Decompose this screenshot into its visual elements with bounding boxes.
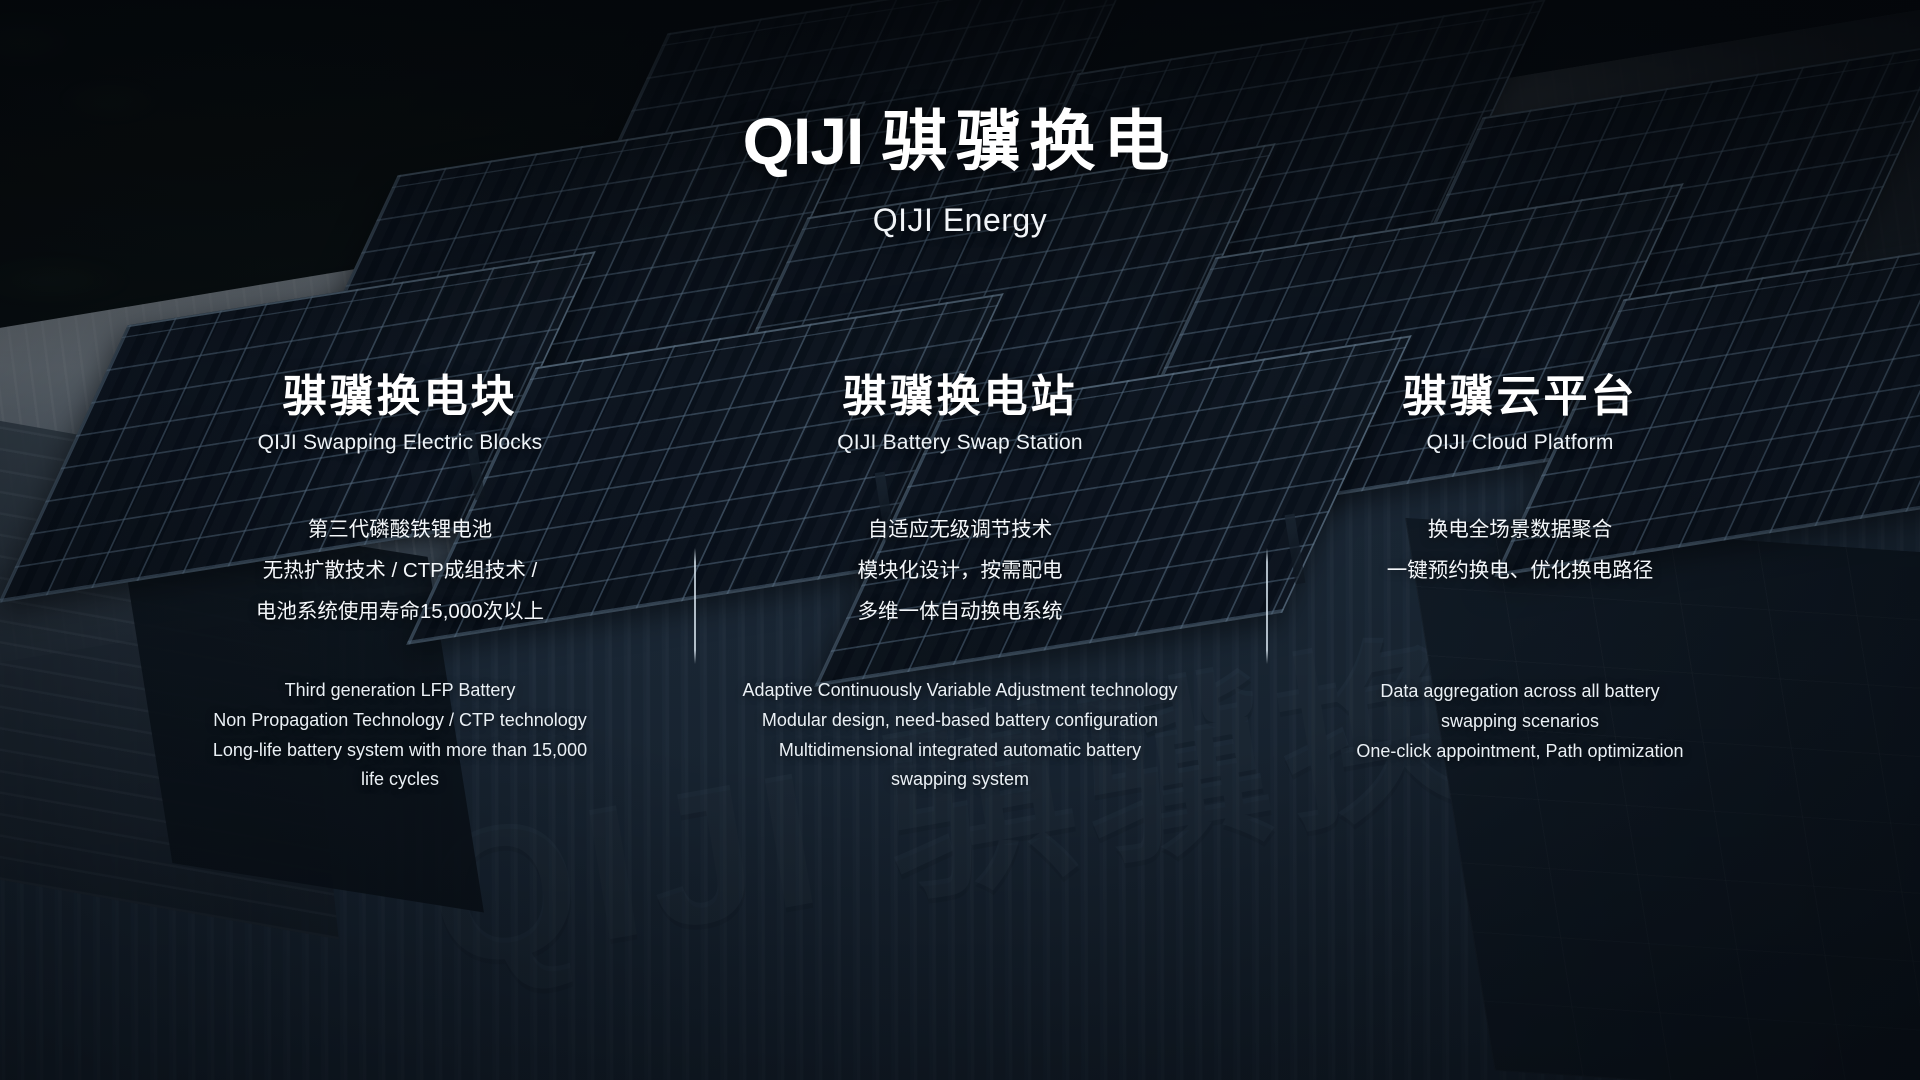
body-line-en: Non Propagation Technology / CTP technol… (132, 706, 668, 736)
column-body-cn: 换电全场景数据聚合 一键预约换电、优化换电路径 (1252, 509, 1788, 591)
body-line-cn: 无热扩散技术 / CTP成组技术 / (132, 550, 668, 591)
brand-logo-cjk: 骐骥换电 (881, 104, 1177, 178)
body-line-en: Modular design, need-based battery confi… (692, 706, 1228, 736)
brand-block: QIJI骐骥换电 QIJI Energy (0, 108, 1920, 239)
column-heading-cn: 骐骥换电站 (692, 372, 1228, 421)
column-divider (1266, 548, 1268, 664)
body-line-cn: 多维一体自动换电系统 (692, 591, 1228, 632)
feature-column-swap-station: 骐骥换电站 QIJI Battery Swap Station 自适应无级调节技… (680, 372, 1240, 795)
column-divider (694, 548, 696, 664)
body-line-cn: 一键预约换电、优化换电路径 (1252, 550, 1788, 591)
body-line-cn: 模块化设计，按需配电 (692, 550, 1228, 591)
body-line-en: Data aggregation across all battery (1252, 677, 1788, 707)
body-line-en: swapping scenarios (1252, 707, 1788, 737)
column-body-cn: 自适应无级调节技术 模块化设计，按需配电 多维一体自动换电系统 (692, 509, 1228, 632)
slide-root: QIJI 骐骥换电 宁德时代 QIJI 骐骥 · 电动重卡 (0, 0, 1920, 1080)
body-line-en: Multidimensional integrated automatic ba… (692, 736, 1228, 766)
body-line-cn: 电池系统使用寿命15,000次以上 (132, 591, 668, 632)
body-line-cn: 第三代磷酸铁锂电池 (132, 509, 668, 550)
body-line-en: One-click appointment, Path optimization (1252, 737, 1788, 767)
body-line-en: Long-life battery system with more than … (132, 736, 668, 766)
body-line-cn: 自适应无级调节技术 (692, 509, 1228, 550)
column-heading-cn: 骐骥云平台 (1252, 372, 1788, 421)
feature-columns: 骐骥换电块 QIJI Swapping Electric Blocks 第三代磷… (0, 372, 1920, 795)
body-line-en: Adaptive Continuously Variable Adjustmen… (692, 676, 1228, 706)
column-body-cn: 第三代磷酸铁锂电池 无热扩散技术 / CTP成组技术 / 电池系统使用寿命15,… (132, 509, 668, 632)
column-heading-en: QIJI Cloud Platform (1252, 431, 1788, 455)
column-heading-en: QIJI Swapping Electric Blocks (132, 431, 668, 455)
feature-column-swapping-blocks: 骐骥换电块 QIJI Swapping Electric Blocks 第三代磷… (120, 372, 680, 795)
slide-content: QIJI骐骥换电 QIJI Energy 骐骥换电块 QIJI Swapping… (0, 0, 1920, 1080)
column-heading-en: QIJI Battery Swap Station (692, 431, 1228, 455)
brand-logo-title: QIJI骐骥换电 (0, 108, 1920, 174)
column-body-en: Data aggregation across all battery swap… (1252, 677, 1788, 766)
column-body-en: Adaptive Continuously Variable Adjustmen… (692, 676, 1228, 795)
body-line-cn: 换电全场景数据聚合 (1252, 509, 1788, 550)
body-line-en: life cycles (132, 765, 668, 795)
body-line-en: swapping system (692, 765, 1228, 795)
column-heading-cn: 骐骥换电块 (132, 372, 668, 421)
brand-tagline: QIJI Energy (0, 202, 1920, 239)
feature-column-cloud-platform: 骐骥云平台 QIJI Cloud Platform 换电全场景数据聚合 一键预约… (1240, 372, 1800, 766)
body-line-en: Third generation LFP Battery (132, 676, 668, 706)
brand-logo-latin: QIJI (743, 104, 864, 178)
column-body-en: Third generation LFP Battery Non Propaga… (132, 676, 668, 795)
